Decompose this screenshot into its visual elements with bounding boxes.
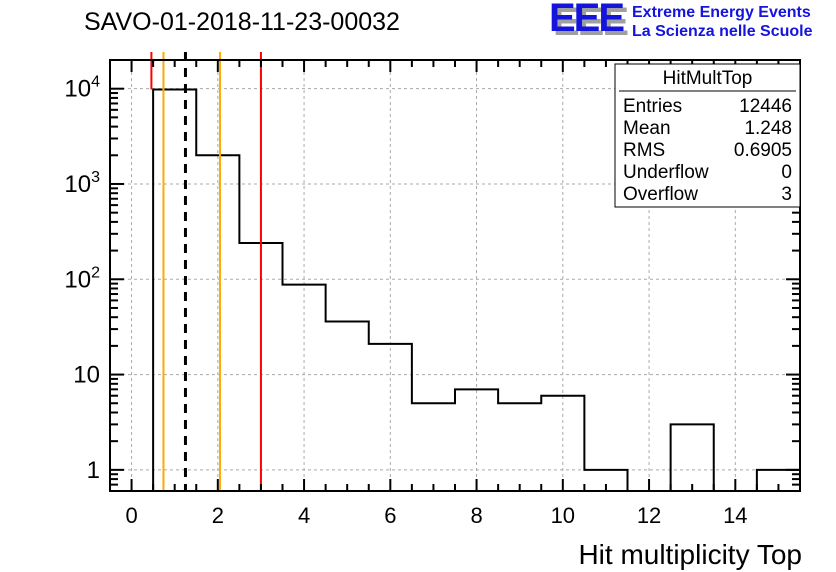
stats-row-value: 0 — [781, 162, 792, 183]
stats-row-label: Entries — [623, 96, 682, 117]
stats-box-title: HitMultTop — [663, 68, 753, 89]
eee-logo-mark: EEE — [549, 0, 624, 40]
x-tick-label: 12 — [637, 503, 661, 528]
stats-row-label: Underflow — [623, 162, 709, 183]
plot-canvas: 02468101214110102103104Hit multiplicity … — [0, 0, 836, 572]
stats-row-value: 0.6905 — [734, 140, 792, 161]
stats-row-label: Mean — [623, 118, 671, 139]
y-tick-label: 10 — [73, 362, 100, 389]
x-tick-label: 6 — [384, 503, 396, 528]
x-axis-title: Hit multiplicity Top — [578, 539, 802, 570]
stats-box: HitMultTopEntries12446Mean1.248RMS0.6905… — [615, 64, 800, 207]
x-tick-label: 0 — [125, 503, 137, 528]
root-figure: 02468101214110102103104Hit multiplicity … — [0, 0, 836, 572]
stats-row-label: Overflow — [623, 184, 698, 205]
x-tick-label: 8 — [470, 503, 482, 528]
x-tick-label: 10 — [551, 503, 575, 528]
stats-row-label: RMS — [623, 140, 665, 161]
eee-logo-line2: La Scienza nelle Scuole — [632, 23, 813, 40]
x-tick-label: 4 — [298, 503, 310, 528]
stats-row-value: 1.248 — [744, 118, 792, 139]
y-tick-label: 1 — [87, 457, 100, 484]
x-tick-label: 14 — [723, 503, 747, 528]
eee-logo-line1: Extreme Energy Events — [632, 4, 811, 21]
stats-row-value: 12446 — [739, 96, 792, 117]
page-title: SAVO-01-2018-11-23-00032 — [84, 8, 400, 36]
stats-row-value: 3 — [781, 184, 792, 205]
x-tick-label: 2 — [212, 503, 224, 528]
